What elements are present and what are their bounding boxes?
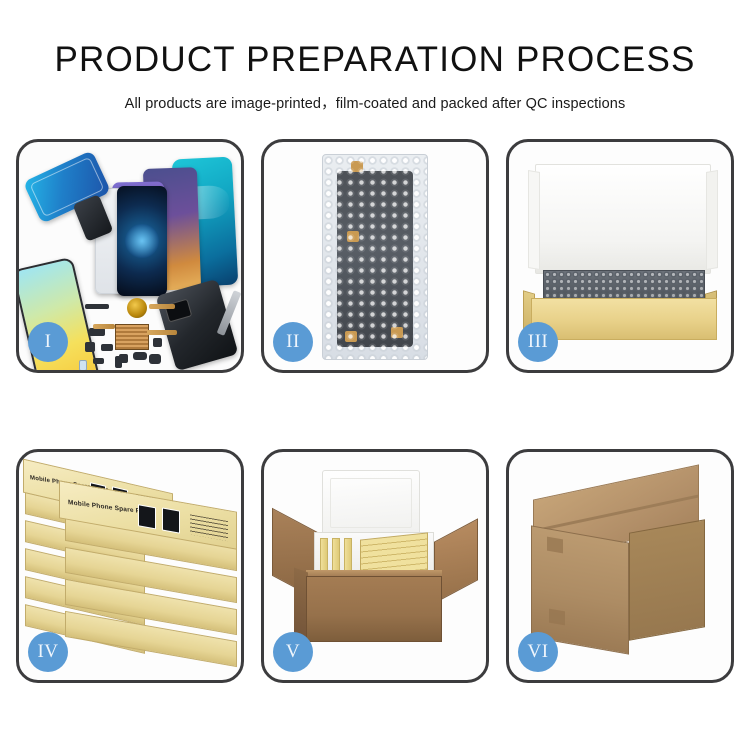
box-artwork-icon: [162, 507, 180, 533]
page-title: PRODUCT PREPARATION PROCESS: [0, 42, 750, 79]
part-icon: [89, 328, 105, 336]
panel-step-1: I: [16, 139, 244, 373]
infographic-page: PRODUCT PREPARATION PROCESS All products…: [0, 0, 750, 750]
part-icon: [93, 358, 104, 364]
panel-3-illustration: III: [509, 142, 731, 370]
page-subtitle: All products are image-printed，film-coat…: [0, 92, 750, 113]
step-badge-4: IV: [28, 632, 68, 672]
tape-strip-icon: [547, 537, 563, 554]
foam-sheet-icon: [535, 164, 711, 274]
part-icon: [133, 352, 147, 360]
step-badge-2: II: [273, 322, 313, 362]
part-icon: [101, 344, 113, 351]
tape-strip-icon: [549, 609, 565, 626]
retail-box-upright: [320, 538, 328, 572]
flex-cable-icon: [149, 304, 175, 309]
carton-side-face-icon: [629, 519, 705, 640]
part-icon: [149, 354, 161, 364]
step-badge-1: I: [28, 322, 68, 362]
panel-step-5: V: [261, 449, 489, 683]
chip-grid-icon: [115, 324, 149, 350]
panel-2-illustration: II: [264, 142, 486, 370]
flex-cable-icon: [147, 330, 177, 335]
panel-6-illustration: VI: [509, 452, 731, 680]
panel-step-4: Mobile Phone Spare Parts Mobile Phone Sp…: [16, 449, 244, 683]
part-icon: [85, 342, 95, 352]
panel-step-6: VI: [506, 449, 734, 683]
part-icon: [79, 360, 87, 371]
bubble-wrap-bag-icon: [322, 154, 428, 360]
panel-4-illustration: Mobile Phone Spare Parts Mobile Phone Sp…: [19, 452, 241, 680]
box-artwork-icon: [138, 504, 156, 529]
kraft-box-front-icon: [531, 298, 717, 340]
part-icon: [115, 356, 122, 368]
panel-5-illustration: V: [264, 452, 486, 680]
header: PRODUCT PREPARATION PROCESS All products…: [0, 0, 750, 113]
phone-dark-icon: [117, 186, 167, 296]
process-grid: I II: [16, 139, 734, 683]
retail-box-upright: [344, 538, 352, 572]
step-badge-3: III: [518, 322, 558, 362]
panel-1-illustration: I: [19, 142, 241, 370]
retail-box-upright: [332, 538, 340, 572]
bubble-texture-icon: [323, 155, 427, 359]
step-badge-5: V: [273, 632, 313, 672]
flex-cable-icon: [93, 324, 115, 329]
foam-lid-icon: [322, 470, 420, 536]
panel-step-3: III: [506, 139, 734, 373]
panel-step-2: II: [261, 139, 489, 373]
copper-coil-icon: [127, 298, 147, 318]
part-icon: [85, 304, 109, 309]
step-badge-6: VI: [518, 632, 558, 672]
bubble-padding-icon: [543, 270, 705, 300]
carton-front-icon: [306, 576, 442, 642]
part-icon: [153, 338, 162, 347]
